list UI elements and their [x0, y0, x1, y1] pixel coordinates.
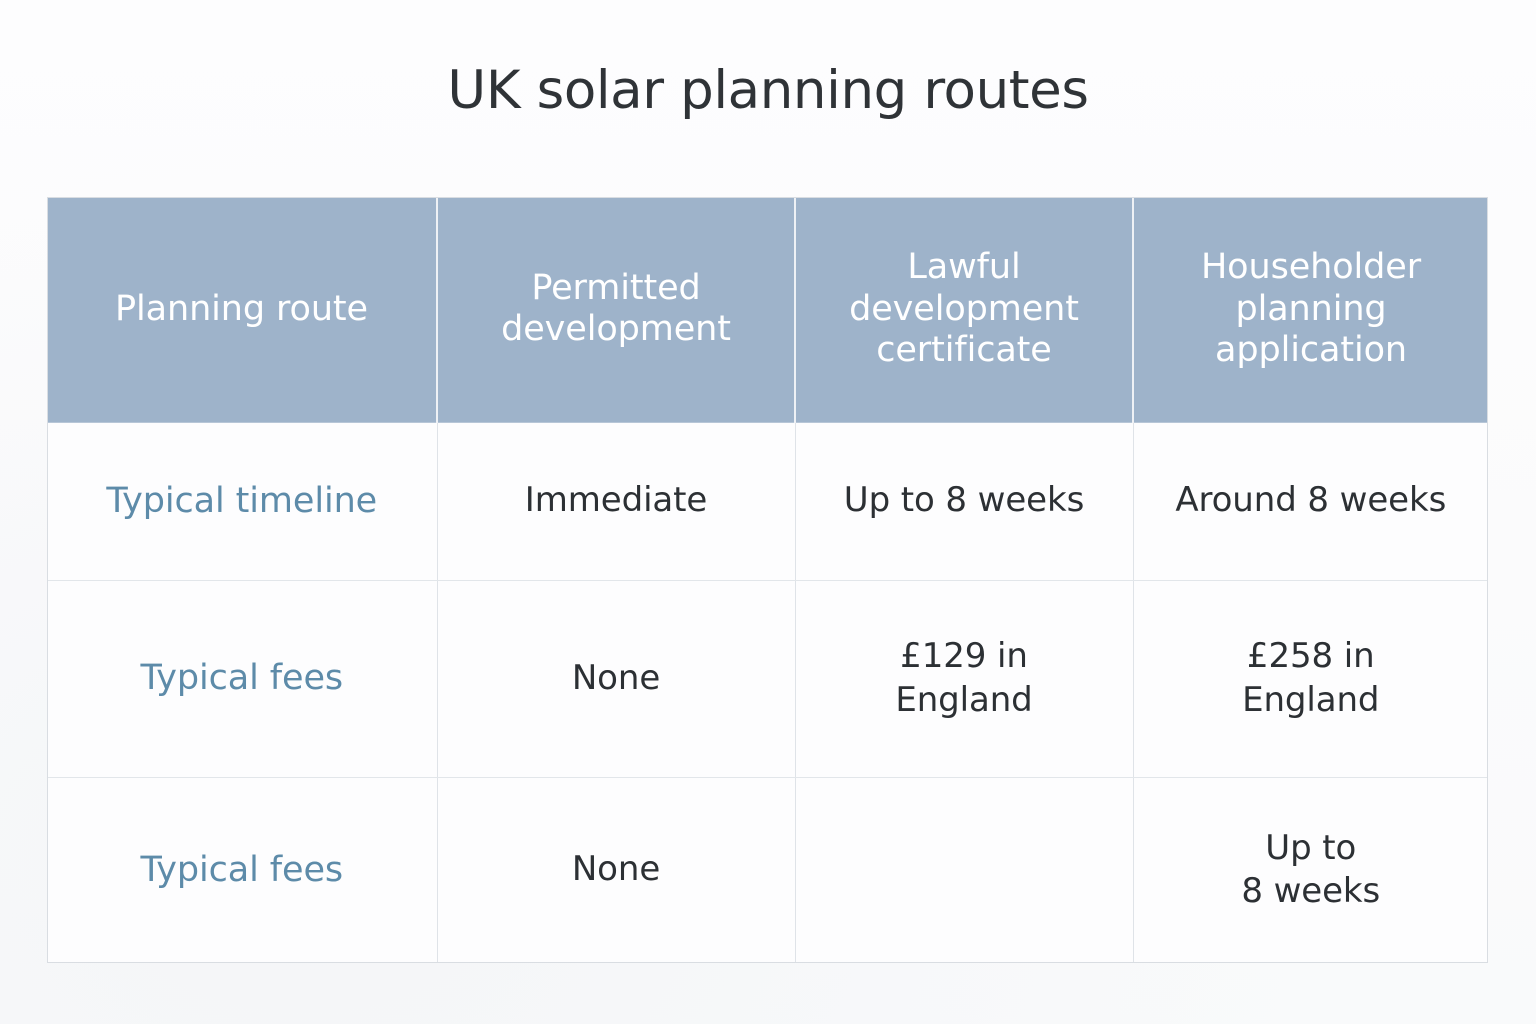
cell-line: England: [1150, 679, 1473, 723]
row-label-typical-fees: Typical fees: [47, 580, 437, 777]
header-line: Lawful: [814, 247, 1114, 288]
header-line: Planning route: [65, 289, 418, 330]
header-line: development: [456, 309, 776, 350]
table-row: Typical fees None Up to 8 weeks: [47, 777, 1488, 963]
column-header-planning-route: Planning route: [47, 197, 437, 422]
cell-fees2-lawful-development-certificate-empty: [795, 777, 1133, 963]
cell-line: England: [812, 679, 1117, 723]
cell-line: £129 in: [812, 635, 1117, 679]
page-title: UK solar planning routes: [0, 62, 1536, 120]
header-line: development: [814, 289, 1114, 330]
column-header-householder-planning-application: Householder planning application: [1133, 197, 1488, 422]
cell-line: None: [454, 848, 779, 892]
cell-line: None: [454, 657, 779, 701]
planning-routes-table: Planning route Permitted development Law…: [47, 197, 1488, 963]
row-label-typical-timeline: Typical timeline: [47, 422, 437, 580]
cell-fees2-permitted-development: None: [437, 777, 795, 963]
cell-timeline-lawful-development-certificate: Up to 8 weeks: [795, 422, 1133, 580]
cell-timeline-householder-planning-application: Around 8 weeks: [1133, 422, 1488, 580]
column-header-lawful-development-certificate: Lawful development certificate: [795, 197, 1133, 422]
planning-routes-table-wrapper: Planning route Permitted development Law…: [47, 197, 1488, 963]
infographic-sheet: UK solar planning routes Planning route …: [0, 0, 1536, 1024]
cell-line: Up to: [1150, 827, 1473, 871]
cell-fees-permitted-development: None: [437, 580, 795, 777]
header-line: application: [1152, 330, 1470, 371]
table-header-row: Planning route Permitted development Law…: [47, 197, 1488, 422]
table-header: Planning route Permitted development Law…: [47, 197, 1488, 422]
column-header-permitted-development: Permitted development: [437, 197, 795, 422]
cell-line: Up to 8 weeks: [812, 479, 1117, 523]
cell-fees-lawful-development-certificate: £129 in England: [795, 580, 1133, 777]
cell-line: £258 in: [1150, 635, 1473, 679]
cell-line: Immediate: [454, 479, 779, 523]
header-line: Householder: [1152, 247, 1470, 288]
cell-fees2-householder-planning-application: Up to 8 weeks: [1133, 777, 1488, 963]
cell-line: 8 weeks: [1150, 870, 1473, 914]
cell-timeline-permitted-development: Immediate: [437, 422, 795, 580]
header-line: planning: [1152, 289, 1470, 330]
table-row: Typical fees None £129 in England £258 i…: [47, 580, 1488, 777]
header-line: certificate: [814, 330, 1114, 371]
header-line: Permitted: [456, 268, 776, 309]
row-label-typical-fees-duplicate: Typical fees: [47, 777, 437, 963]
cell-line: Around 8 weeks: [1150, 479, 1473, 523]
cell-fees-householder-planning-application: £258 in England: [1133, 580, 1488, 777]
table-row: Typical timeline Immediate Up to 8 weeks…: [47, 422, 1488, 580]
table-body: Typical timeline Immediate Up to 8 weeks…: [47, 422, 1488, 963]
